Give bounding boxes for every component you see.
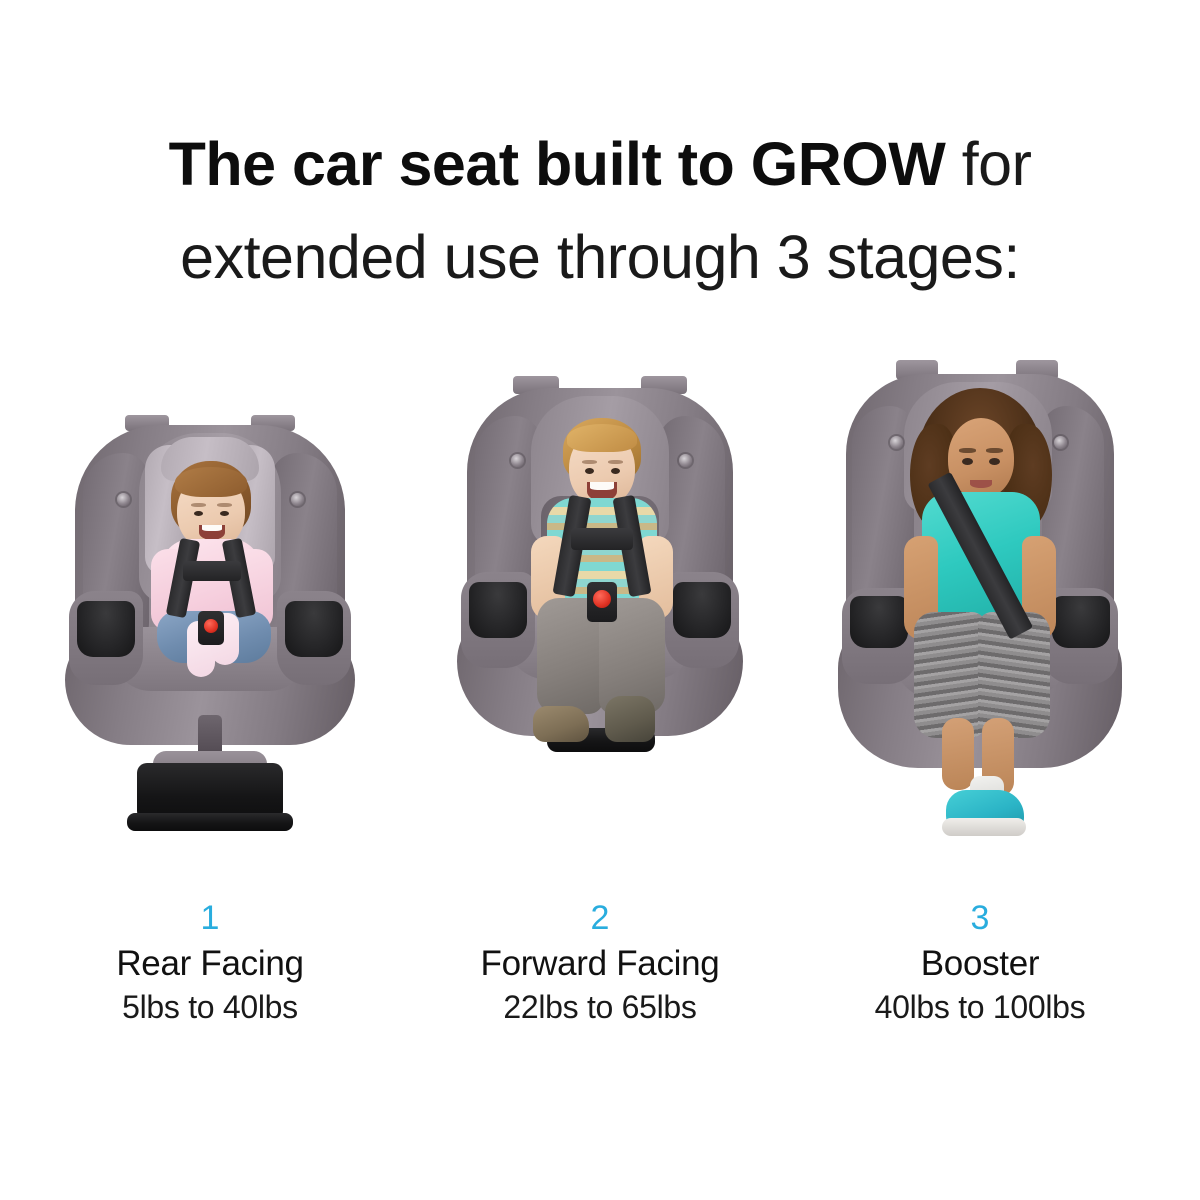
girl-shin-left — [942, 718, 974, 790]
stage-1-weight-range: 5lbs to 40lbs — [10, 986, 410, 1028]
girl-eye-left — [962, 458, 973, 465]
girl-mouth — [970, 480, 992, 488]
harness-adjuster-knob-right-2 — [679, 454, 692, 467]
harness-adjuster-knob-left — [117, 493, 130, 506]
stage-3-number: 3 — [780, 898, 1180, 938]
stage-1-title: Rear Facing — [10, 942, 410, 986]
infant-brow-right — [217, 503, 232, 507]
girl-sneaker-sole — [942, 818, 1026, 836]
headline-line-1: The car seat built to GROW for — [0, 126, 1200, 219]
harness-adjuster-knob-left-3 — [890, 436, 903, 449]
headline-line-2-text: extended use through 3 stages: — [180, 223, 1020, 291]
page-headline: The car seat built to GROW for extended … — [0, 126, 1200, 312]
toddler-eye-left — [585, 468, 594, 474]
stage-1-image — [10, 350, 410, 910]
girl-eye-right — [989, 458, 1000, 465]
stage-2-title: Forward Facing — [400, 942, 800, 986]
chest-clip — [183, 561, 241, 581]
infant-fringe — [175, 467, 247, 497]
cup-holder-left — [77, 601, 135, 657]
headline-light-text: for — [945, 130, 1031, 198]
toddler-brow-right — [608, 460, 623, 464]
forward-facing-car-seat-illustration — [455, 376, 745, 806]
cup-holder-right — [285, 601, 343, 657]
toddler-sandal-left — [533, 706, 589, 742]
infant-mouth — [199, 525, 225, 540]
headline-bold-text: The car seat built to GROW — [169, 130, 946, 198]
stage-2-caption: 2 Forward Facing 22lbs to 65lbs — [400, 898, 800, 1028]
girl-brow-left — [959, 448, 976, 453]
base-foot — [127, 813, 293, 831]
toddler-eye-right — [611, 468, 620, 474]
stage-card-1: 1 Rear Facing 5lbs to 40lbs — [10, 350, 410, 1070]
stage-card-3: 3 Booster 40lbs to 100lbs — [780, 350, 1180, 1070]
toddler-fringe — [567, 424, 637, 452]
stage-2-number: 2 — [400, 898, 800, 938]
stage-card-2: 2 Forward Facing 22lbs to 65lbs — [400, 350, 800, 1070]
stage-3-weight-range: 40lbs to 100lbs — [780, 986, 1180, 1028]
infant-eye-right — [220, 511, 229, 516]
stage-1-caption: 1 Rear Facing 5lbs to 40lbs — [10, 898, 410, 1028]
cup-holder-right-2 — [673, 582, 731, 638]
cup-holder-left-3 — [850, 596, 908, 648]
buckle-release-button — [204, 619, 218, 633]
stage-2-image — [400, 350, 800, 910]
rear-facing-car-seat-illustration — [65, 415, 355, 835]
stage-3-caption: 3 Booster 40lbs to 100lbs — [780, 898, 1180, 1028]
stage-2-weight-range: 22lbs to 65lbs — [400, 986, 800, 1028]
stage-1-number: 1 — [10, 898, 410, 938]
infant-eye-left — [194, 511, 203, 516]
harness-adjuster-knob-right — [291, 493, 304, 506]
harness-adjuster-knob-left-2 — [511, 454, 524, 467]
headline-line-2: extended use through 3 stages: — [0, 219, 1200, 312]
girl-brow-right — [986, 448, 1003, 453]
buckle-release-button-2 — [593, 590, 611, 608]
infant-brow-left — [191, 503, 206, 507]
cup-holder-left-2 — [469, 582, 527, 638]
booster-seat-illustration — [830, 360, 1130, 840]
stage-3-title: Booster — [780, 942, 1180, 986]
stage-3-image — [780, 350, 1180, 910]
cup-holder-right-3 — [1052, 596, 1110, 648]
stages-row: 1 Rear Facing 5lbs to 40lbs — [0, 350, 1200, 1070]
toddler-brow-left — [582, 460, 597, 464]
chest-clip-2 — [571, 528, 633, 550]
harness-adjuster-knob-right-3 — [1054, 436, 1067, 449]
toddler-sandal-right — [605, 696, 655, 742]
